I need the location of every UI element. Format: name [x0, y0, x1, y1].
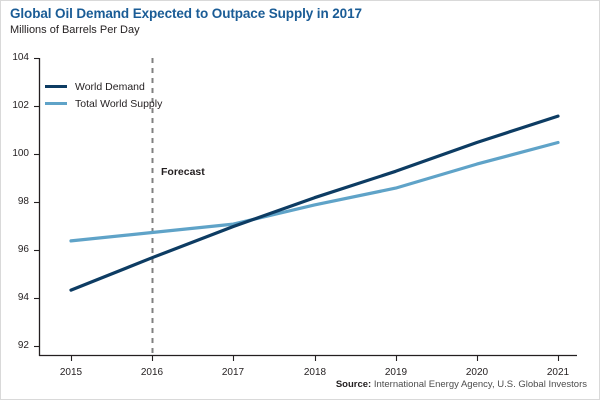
- x-tick-label-2016: 2016: [132, 367, 172, 378]
- x-tick-label-2017: 2017: [213, 367, 253, 378]
- source-text: International Energy Agency, U.S. Global…: [374, 379, 587, 390]
- legend-swatch-icon-total-world-supply: [45, 102, 67, 105]
- legend-label-world-demand: World Demand: [75, 81, 145, 93]
- x-axis-ticks: [72, 356, 559, 361]
- legend-label-total-world-supply: Total World Supply: [75, 98, 162, 110]
- legend-item-total-world-supply[interactable]: Total World Supply: [45, 96, 162, 111]
- legend-swatch-icon-world-demand: [45, 85, 67, 88]
- source-note: Source: International Energy Agency, U.S…: [336, 379, 587, 390]
- y-tick-label-102: 102: [7, 100, 29, 111]
- y-tick-label-94: 94: [7, 292, 29, 303]
- chart-container: Global Oil Demand Expected to Outpace Su…: [0, 0, 600, 400]
- plot-area: [1, 1, 600, 400]
- y-tick-label-96: 96: [7, 244, 29, 255]
- y-tick-label-100: 100: [7, 148, 29, 159]
- x-tick-label-2020: 2020: [457, 367, 497, 378]
- series-line-world-demand: [71, 116, 558, 290]
- x-tick-label-2018: 2018: [295, 367, 335, 378]
- y-tick-label-104: 104: [7, 52, 29, 63]
- x-tick-label-2015: 2015: [51, 367, 91, 378]
- x-tick-label-2019: 2019: [376, 367, 416, 378]
- source-prefix: Source:: [336, 379, 371, 390]
- y-tick-label-92: 92: [7, 340, 29, 351]
- chart-legend: World Demand Total World Supply: [45, 79, 162, 113]
- y-axis-ticks: [34, 59, 39, 347]
- legend-item-world-demand[interactable]: World Demand: [45, 79, 162, 94]
- forecast-annotation-label: Forecast: [161, 166, 205, 178]
- y-tick-label-98: 98: [7, 196, 29, 207]
- x-tick-label-2021: 2021: [538, 367, 578, 378]
- series-line-total-world-supply: [71, 143, 558, 241]
